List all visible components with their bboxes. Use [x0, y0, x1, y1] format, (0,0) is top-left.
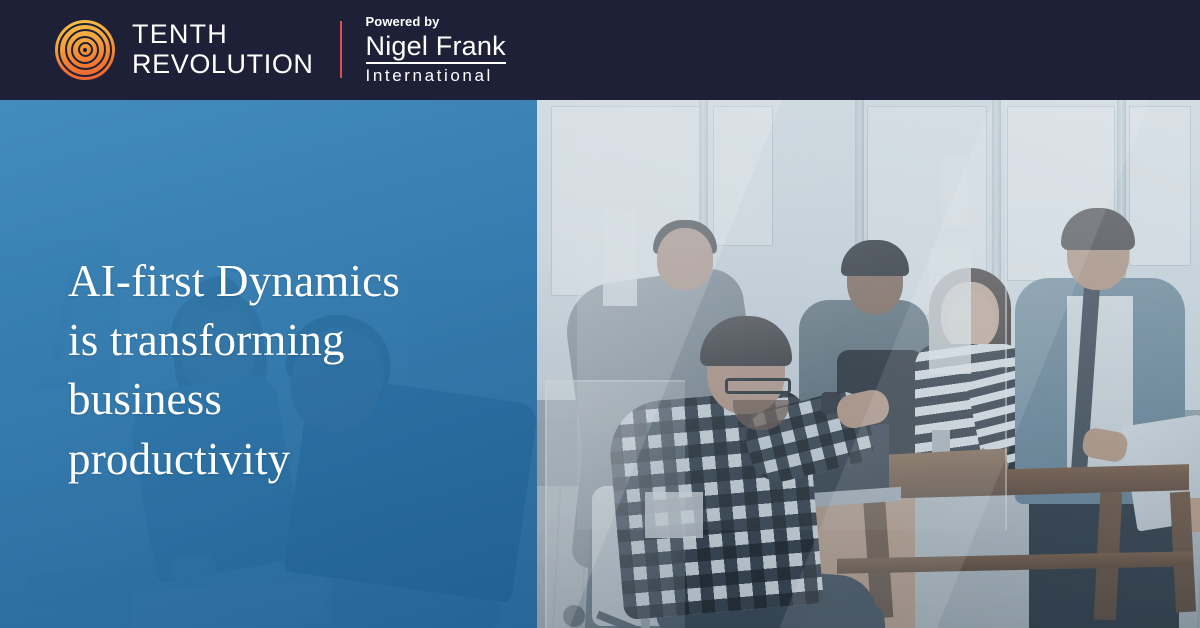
headline-line: business: [68, 370, 498, 429]
headline-line: productivity: [68, 430, 498, 489]
logo-lockup[interactable]: TENTH REVOLUTION Powered by Nigel Frank …: [0, 15, 506, 85]
photo-scene-right: [537, 100, 1200, 628]
page-title: AI-first Dynamics is transforming busine…: [68, 252, 498, 489]
office-team-photo: [537, 100, 1200, 628]
headline-line: is transforming: [68, 311, 498, 370]
hero-stage: AI-first Dynamics is transforming busine…: [0, 100, 1200, 628]
blue-tinted-office-photo: AI-first Dynamics is transforming busine…: [0, 100, 537, 628]
wordmark-line-2: REVOLUTION: [132, 49, 314, 79]
brand-wordmark: TENTH REVOLUTION: [132, 20, 314, 79]
wordmark-line-1: TENTH: [132, 19, 228, 49]
brand-divider: [340, 21, 342, 78]
marketing-banner: TENTH REVOLUTION Powered by Nigel Frank …: [0, 0, 1200, 628]
concentric-rings-logo-icon: [55, 20, 115, 80]
logo-ring-5: [83, 48, 87, 52]
powered-by-label: Powered by: [366, 15, 506, 29]
powered-by-lockup: Powered by Nigel Frank International: [366, 15, 506, 85]
headline-line: AI-first Dynamics: [68, 252, 498, 311]
glass-reflection-layer: [537, 100, 1200, 628]
nigel-frank-suffix: International: [366, 67, 506, 85]
site-header: TENTH REVOLUTION Powered by Nigel Frank …: [0, 0, 1200, 100]
nigel-frank-brand: Nigel Frank: [366, 32, 506, 64]
